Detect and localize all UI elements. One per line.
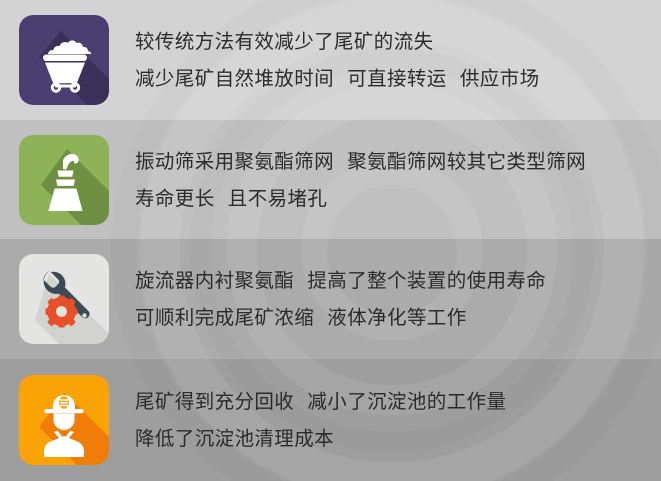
benefit-text-block: 旋流器内衬聚氨酯 提高了整个装置的使用寿命 可顺利完成尾矿浓缩 液体净化等工作 — [135, 262, 661, 336]
worker-helmet-icon — [19, 375, 109, 465]
benefit-text-block: 振动筛采用聚氨酯筛网 聚氨酯筛网较其它类型筛网 寿命更长 且不易堵孔 — [135, 143, 661, 217]
benefit-line: 降低了沉淀池清理成本 — [135, 420, 661, 457]
wrench-gear-icon — [19, 254, 109, 344]
benefit-text-block: 较传统方法有效减少了尾矿的流失 减少尾矿自然堆放时间 可直接转运 供应市场 — [135, 23, 661, 97]
factory-chimney-icon — [19, 135, 109, 225]
benefit-row: 尾矿得到充分回收 减小了沉淀池的工作量 降低了沉淀池清理成本 — [0, 359, 661, 481]
benefit-row: 旋流器内衬聚氨酯 提高了整个装置的使用寿命 可顺利完成尾矿浓缩 液体净化等工作 — [0, 239, 661, 359]
benefits-infographic: 较传统方法有效减少了尾矿的流失 减少尾矿自然堆放时间 可直接转运 供应市场 — [0, 0, 661, 481]
benefit-line: 旋流器内衬聚氨酯 提高了整个装置的使用寿命 — [135, 262, 661, 299]
benefit-line: 可顺利完成尾矿浓缩 液体净化等工作 — [135, 299, 661, 336]
benefit-line: 寿命更长 且不易堵孔 — [135, 180, 661, 217]
mine-cart-icon — [19, 15, 109, 105]
benefit-row: 振动筛采用聚氨酯筛网 聚氨酯筛网较其它类型筛网 寿命更长 且不易堵孔 — [0, 120, 661, 239]
benefit-line: 尾矿得到充分回收 减小了沉淀池的工作量 — [135, 383, 661, 420]
benefit-line: 减少尾矿自然堆放时间 可直接转运 供应市场 — [135, 60, 661, 97]
benefit-line: 振动筛采用聚氨酯筛网 聚氨酯筛网较其它类型筛网 — [135, 143, 661, 180]
benefit-text-block: 尾矿得到充分回收 减小了沉淀池的工作量 降低了沉淀池清理成本 — [135, 383, 661, 457]
benefit-line: 较传统方法有效减少了尾矿的流失 — [135, 23, 661, 60]
benefit-row: 较传统方法有效减少了尾矿的流失 减少尾矿自然堆放时间 可直接转运 供应市场 — [0, 0, 661, 120]
